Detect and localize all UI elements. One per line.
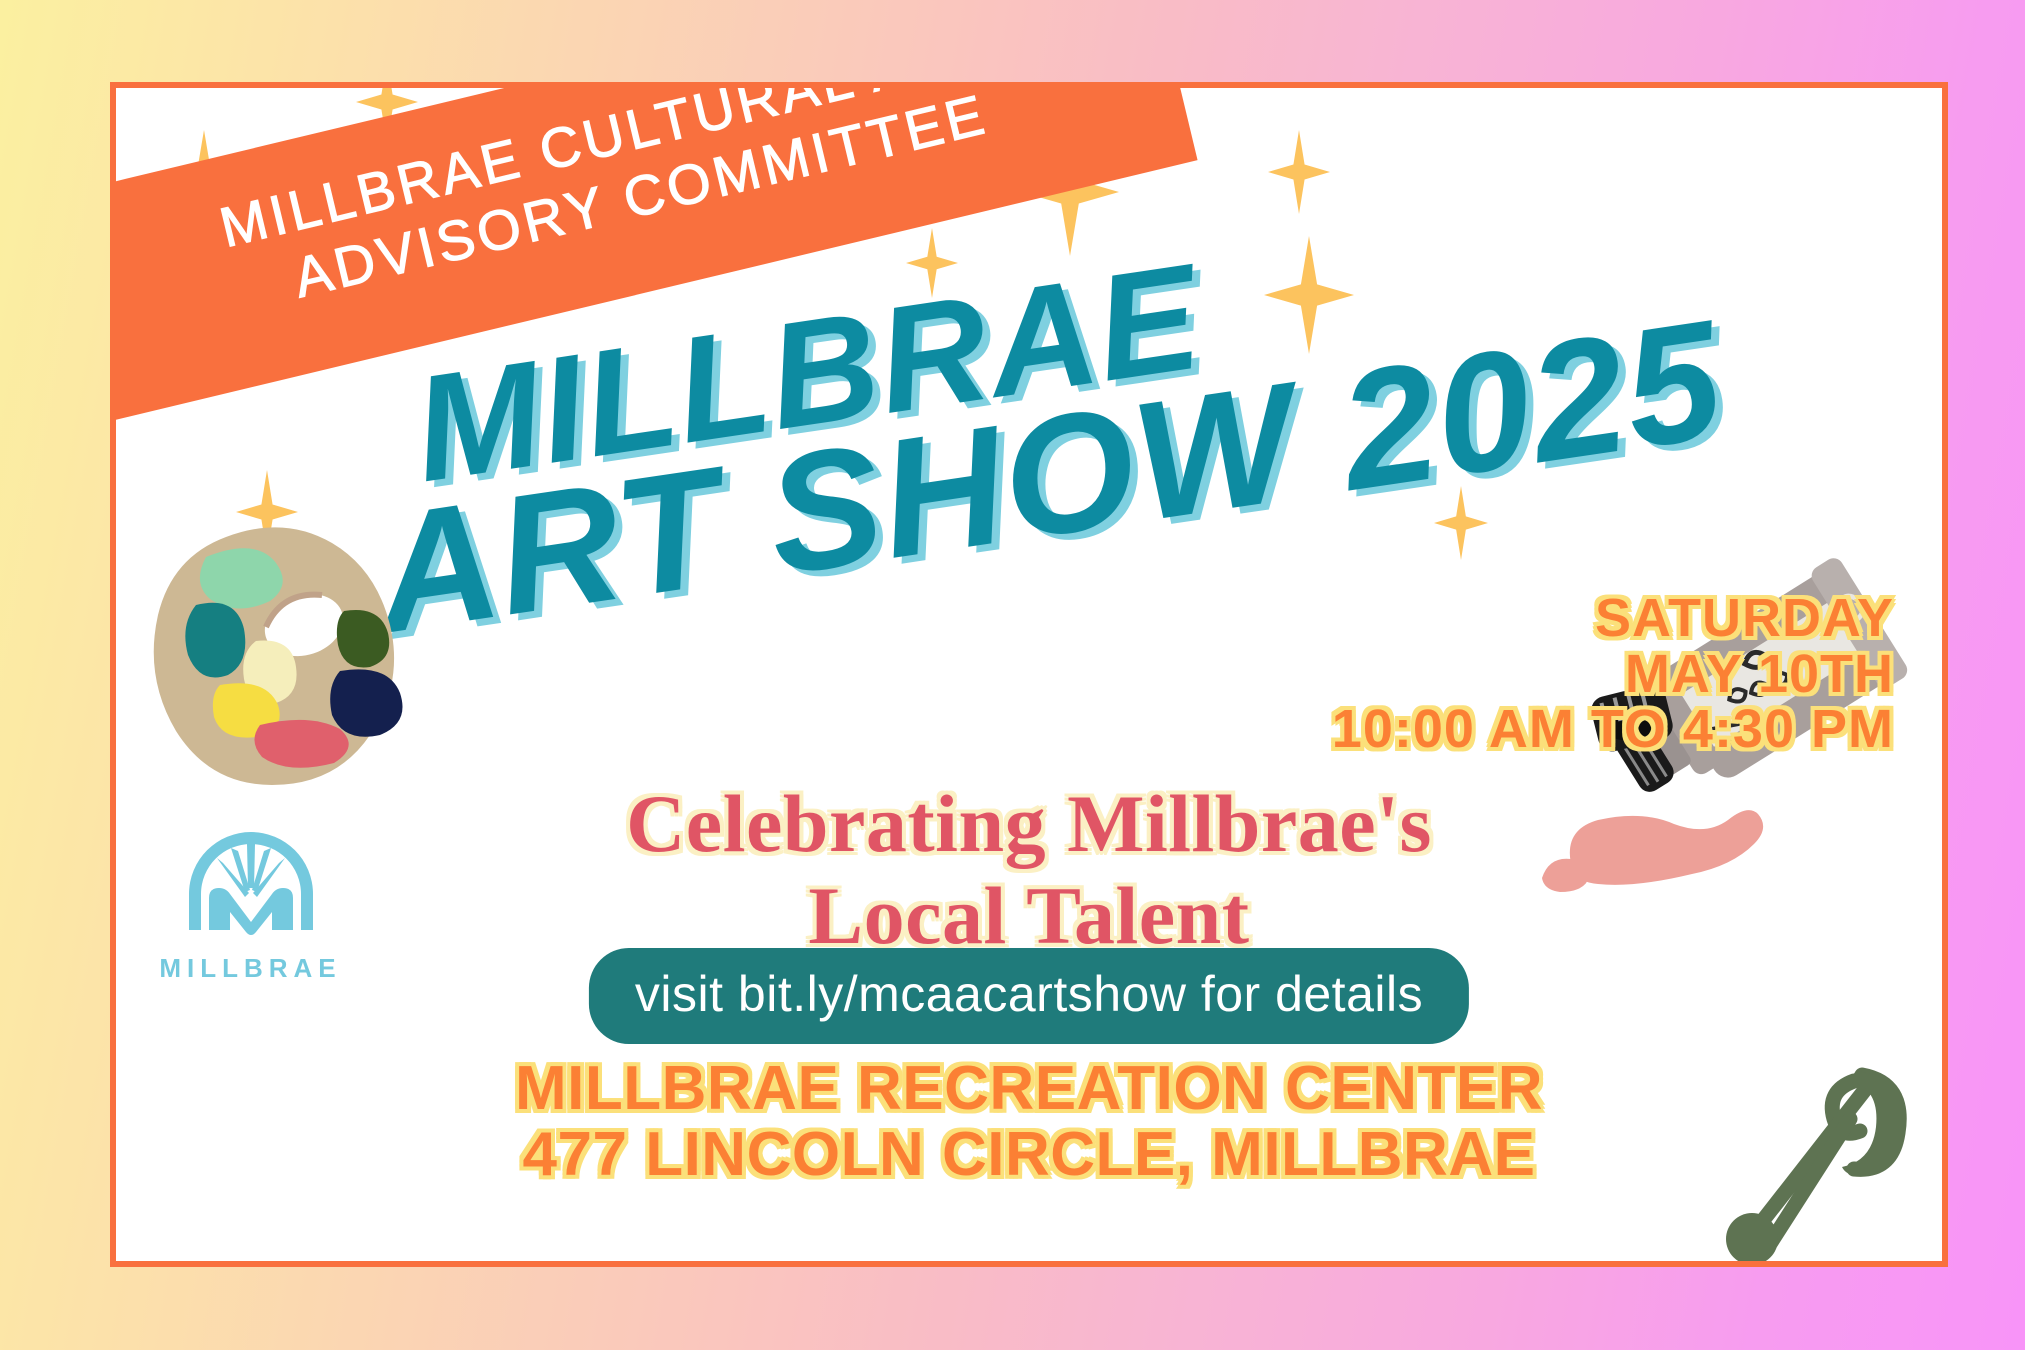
event-date-block: SATURDAY MAY 10TH 10:00 AM TO 4:30 PM xyxy=(1332,591,1894,758)
event-day: SATURDAY xyxy=(1332,591,1894,647)
venue-block: MILLBRAE RECREATION CENTER 477 LINCOLN C… xyxy=(116,1056,1942,1187)
poster-card: MILLBRAE CULTURAL ARTS ADVISORY COMMITTE… xyxy=(110,82,1948,1267)
paint-palette-illustration xyxy=(144,513,414,793)
sparkle-icon xyxy=(1268,130,1330,214)
millbrae-sunburst-m-icon xyxy=(176,826,326,946)
millbrae-wordmark: MILLBRAE xyxy=(158,953,343,984)
venue-address: 477 LINCOLN CIRCLE, MILLBRAE xyxy=(116,1122,1942,1188)
millbrae-logo: MILLBRAE xyxy=(158,826,343,984)
venue-name: MILLBRAE RECREATION CENTER xyxy=(116,1056,1942,1122)
details-url-pill[interactable]: visit bit.ly/mcaacartshow for details xyxy=(589,948,1469,1044)
event-time: 10:00 AM TO 4:30 PM xyxy=(1332,702,1894,758)
safety-pin-illustration xyxy=(1714,1041,1924,1267)
tagline-line-1: Celebrating Millbrae's xyxy=(116,778,1942,870)
event-tagline: Celebrating Millbrae's Local Talent xyxy=(116,778,1942,962)
event-date: MAY 10TH xyxy=(1332,647,1894,703)
